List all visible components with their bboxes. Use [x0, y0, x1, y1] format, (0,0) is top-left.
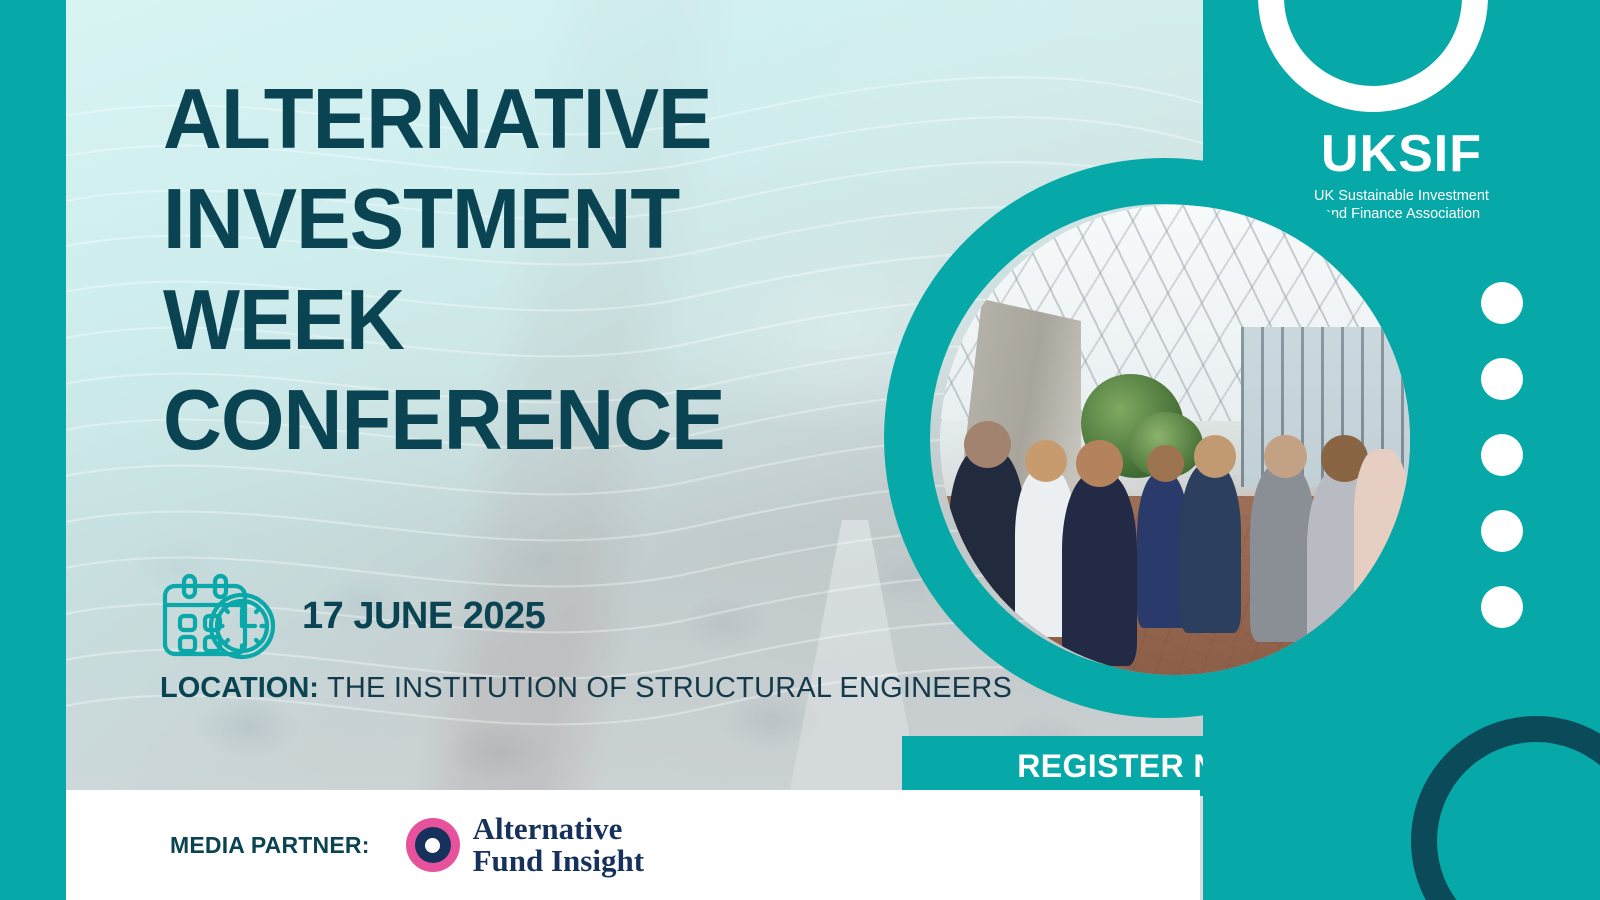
media-partner-label: MEDIA PARTNER: — [170, 832, 370, 859]
decor-dot — [1481, 510, 1523, 552]
afi-wordmark-line-1: Alternative — [473, 813, 644, 845]
attendee — [1354, 449, 1410, 609]
attendee-head — [1194, 435, 1236, 477]
event-date: 17 JUNE 2025 — [302, 595, 545, 638]
headline-line-3: WEEK — [163, 271, 893, 371]
calendar-clock-icon — [160, 572, 278, 660]
decor-dot — [1481, 358, 1523, 400]
alternative-fund-insight-logo: Alternative Fund Insight — [406, 813, 644, 877]
uksif-wordmark: UKSIF — [1203, 128, 1600, 180]
afi-wordmark-line-2: Fund Insight — [473, 845, 644, 877]
afi-circle-icon — [406, 818, 460, 872]
networking-photo — [940, 205, 1410, 675]
headline-line-1: ALTERNATIVE — [163, 70, 893, 170]
event-date-row: 17 JUNE 2025 — [160, 572, 545, 660]
decor-dot — [1481, 434, 1523, 476]
attendee-head — [1264, 435, 1306, 477]
afi-wordmark: Alternative Fund Insight — [473, 813, 644, 877]
attendee — [1062, 473, 1137, 666]
attendee-head — [1076, 440, 1123, 487]
location-value: THE INSTITUTION OF STRUCTURAL ENGINEERS — [327, 672, 1012, 704]
attendee — [1180, 464, 1241, 633]
media-partner-bar: MEDIA PARTNER: Alternative Fund Insight — [66, 790, 1200, 900]
promo-banner: ALTERNATIVE INVESTMENT WEEK CONFERENCE — [0, 0, 1600, 900]
attendee-head — [1025, 440, 1067, 482]
left-accent-strip — [0, 0, 66, 900]
page-title: ALTERNATIVE INVESTMENT WEEK CONFERENCE — [163, 70, 893, 471]
decor-dot — [1481, 282, 1523, 324]
attendee-head — [964, 421, 1011, 468]
event-location: LOCATION: THE INSTITUTION OF STRUCTURAL … — [160, 672, 1012, 705]
decor-dot — [1481, 586, 1523, 628]
headline-line-4: CONFERENCE — [163, 371, 893, 471]
dot-column — [1481, 282, 1523, 662]
headline-line-2: INVESTMENT — [163, 170, 893, 270]
location-label: LOCATION: — [160, 672, 319, 704]
attendee — [949, 449, 1024, 637]
